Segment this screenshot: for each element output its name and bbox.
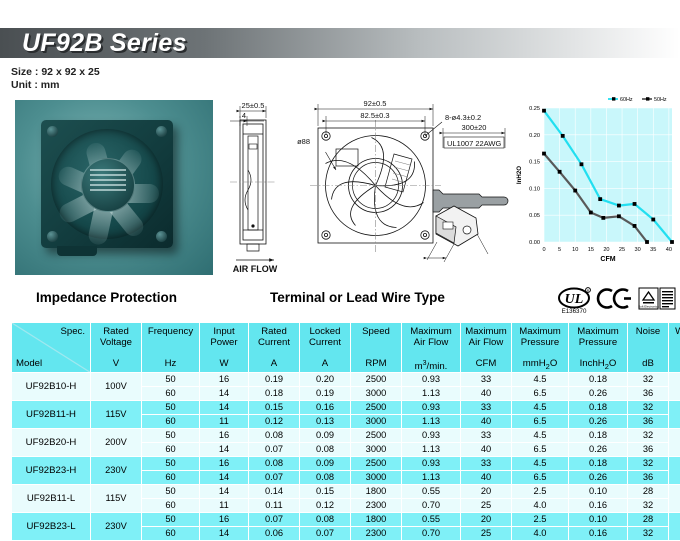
x-tick-label: 10 <box>572 247 578 253</box>
cell-w: 16 <box>200 457 249 471</box>
cell-m3: 1.13 <box>402 443 461 457</box>
y-tick-label: 0.00 <box>529 240 540 246</box>
header-speed: Speed RPM <box>351 323 402 373</box>
cell-db: 32 <box>628 457 669 471</box>
cell-il: 0.09 <box>300 429 351 443</box>
cell-inch: 0.18 <box>569 457 628 471</box>
y-tick-label: 0.20 <box>529 133 540 139</box>
cell-m3: 1.13 <box>402 471 461 485</box>
dim-side-flange: 4 <box>242 111 246 120</box>
cell-m3: 0.70 <box>402 499 461 513</box>
y-axis-label: InH2O <box>516 166 523 184</box>
ul-icon: UL R <box>559 288 590 308</box>
header-weight: Weight kg <box>669 323 680 373</box>
cell-m3: 0.93 <box>402 457 461 471</box>
unit-m3-min: m3/min. <box>402 358 460 372</box>
header-spec-label: Spec. <box>60 326 85 337</box>
header-locked-current: Locked Current A <box>300 323 351 373</box>
data-point-60Hz <box>617 204 621 208</box>
cell-il: 0.15 <box>300 485 351 499</box>
data-point-60Hz <box>598 197 602 201</box>
wire-spec-label: UL1007 22AWG <box>447 139 502 148</box>
cell-inch: 0.10 <box>569 485 628 499</box>
fan-hub-label <box>81 158 135 212</box>
dim-width: 92±0.5 <box>364 99 387 108</box>
cell-weight: 0.28 <box>669 373 680 401</box>
cell-hz: 50 <box>142 429 200 443</box>
cell-rated-voltage: 115V <box>91 401 142 429</box>
cell-rpm: 3000 <box>351 387 402 401</box>
cell-hz: 60 <box>142 415 200 429</box>
cell-weight: 0.28 <box>669 485 680 513</box>
cell-inch: 0.26 <box>569 387 628 401</box>
cell-hz: 60 <box>142 387 200 401</box>
mount-hole-icon <box>156 126 167 137</box>
cell-w: 14 <box>200 471 249 485</box>
cell-il: 0.12 <box>300 499 351 513</box>
hub-label-text <box>90 169 126 199</box>
cell-db: 28 <box>628 513 669 527</box>
legend-label-60Hz: 60Hz <box>620 97 633 103</box>
data-point-60Hz <box>670 240 674 244</box>
cell-il: 0.19 <box>300 387 351 401</box>
cell-db: 36 <box>628 415 669 429</box>
data-point-60Hz <box>651 218 655 222</box>
ce-icon <box>598 290 631 308</box>
data-point-60Hz <box>561 134 565 138</box>
engineering-drawing: 25±0.5 4 ø88 AIR FLOW 92±0.5 82.5±0.3 8-… <box>218 92 518 277</box>
x-tick-label: 20 <box>603 247 609 253</box>
cell-w: 14 <box>200 401 249 415</box>
data-point-50Hz <box>645 240 649 244</box>
cell-il: 0.09 <box>300 457 351 471</box>
header-noise: Noise dB <box>628 323 669 373</box>
cell-cfm: 40 <box>461 415 512 429</box>
cell-w: 11 <box>200 415 249 429</box>
cell-mm: 4.0 <box>512 499 569 513</box>
cell-mm: 4.5 <box>512 401 569 415</box>
cell-model: UF92B23-H <box>12 457 91 485</box>
cell-mm: 6.5 <box>512 415 569 429</box>
cell-hz: 50 <box>142 513 200 527</box>
dim-hole-pitch: 82.5±0.3 <box>360 111 389 120</box>
fan-housing <box>41 120 173 248</box>
cell-cfm: 40 <box>461 443 512 457</box>
x-tick-label: 15 <box>588 247 594 253</box>
cell-hz: 60 <box>142 471 200 485</box>
mount-hole-icon <box>156 231 167 242</box>
cell-il: 0.16 <box>300 401 351 415</box>
cell-mm: 4.5 <box>512 429 569 443</box>
cell-m3: 0.93 <box>402 373 461 387</box>
cell-weight: 0.28 <box>669 401 680 429</box>
cell-db: 32 <box>628 429 669 443</box>
cell-rated-voltage: 230V <box>91 457 142 485</box>
cell-m3: 1.13 <box>402 387 461 401</box>
x-tick-label: 40 <box>666 247 672 253</box>
legend-marker-60Hz <box>612 97 615 100</box>
data-point-50Hz <box>589 211 593 215</box>
mount-hole-icon <box>47 231 58 242</box>
header-frequency: Frequency Hz <box>142 323 200 373</box>
table-header-row: Spec. Model Rated Voltage V Frequency Hz… <box>12 323 680 373</box>
cell-il: 0.08 <box>300 513 351 527</box>
cell-ia: 0.07 <box>249 513 300 527</box>
spec-plate-mark-icon <box>660 288 675 309</box>
x-axis-label: CFM <box>600 256 615 263</box>
cell-cfm: 20 <box>461 513 512 527</box>
y-tick-label: 0.15 <box>529 160 540 166</box>
svg-text:UL: UL <box>565 292 584 307</box>
cell-mm: 4.5 <box>512 457 569 471</box>
cell-db: 32 <box>628 373 669 387</box>
cell-model: UF92B23-L <box>12 513 91 541</box>
unit-inchh2o: InchH2O <box>569 358 627 372</box>
cell-mm: 6.5 <box>512 387 569 401</box>
cell-db: 36 <box>628 471 669 485</box>
certification-marks: UL R E136370 Soft Electronics <box>558 286 676 316</box>
cell-ia: 0.08 <box>249 429 300 443</box>
cell-hz: 50 <box>142 485 200 499</box>
cell-db: 32 <box>628 499 669 513</box>
cell-inch: 0.18 <box>569 373 628 387</box>
cell-hz: 50 <box>142 373 200 387</box>
cell-model: UF92B10-H <box>12 373 91 401</box>
cell-m3: 0.55 <box>402 513 461 527</box>
y-tick-label: 0.05 <box>529 213 540 219</box>
header-max-pressure-inch: Maximum Pressure InchH2O <box>569 323 628 373</box>
cell-il: 0.13 <box>300 415 351 429</box>
x-tick-label: 35 <box>650 247 656 253</box>
data-point-50Hz <box>617 214 621 218</box>
unit-mmh2o: mmH2O <box>512 358 568 372</box>
cell-cfm: 40 <box>461 387 512 401</box>
y-tick-label: 0.25 <box>529 106 540 112</box>
cell-cfm: 33 <box>461 401 512 415</box>
cell-m3: 0.93 <box>402 401 461 415</box>
cell-cfm: 20 <box>461 485 512 499</box>
cell-w: 16 <box>200 373 249 387</box>
data-point-50Hz <box>558 170 562 174</box>
cell-rpm: 2500 <box>351 401 402 415</box>
header-rated-voltage: Rated Voltage V <box>91 323 142 373</box>
cell-model: UF92B11-H <box>12 401 91 429</box>
page-title: UF92B Series <box>22 28 422 58</box>
cell-rpm: 2500 <box>351 457 402 471</box>
svg-text:Soft Electronics: Soft Electronics <box>638 305 659 309</box>
x-tick-label: 30 <box>635 247 641 253</box>
header-max-airflow-m3: Maximum Air Flow m3/min. <box>402 323 461 373</box>
table-row: UF92B23-H230V50160.080.0925000.93334.50.… <box>12 457 680 471</box>
cell-db: 36 <box>628 443 669 457</box>
cell-w: 11 <box>200 499 249 513</box>
header-max-pressure-mm: Maximum Pressure mmH2O <box>512 323 569 373</box>
table-row: UF92B10-H100V50160.190.2025000.93334.50.… <box>12 373 680 387</box>
unit-line: Unit : mm <box>11 79 100 92</box>
cell-rpm: 1800 <box>351 485 402 499</box>
cell-w: 14 <box>200 443 249 457</box>
cell-cfm: 40 <box>461 471 512 485</box>
cell-inch: 0.26 <box>569 471 628 485</box>
cell-mm: 6.5 <box>512 471 569 485</box>
recycle-mark-icon: Soft Electronics <box>638 288 659 309</box>
cell-ia: 0.14 <box>249 485 300 499</box>
cell-ia: 0.19 <box>249 373 300 387</box>
cell-db: 36 <box>628 387 669 401</box>
cell-rpm: 2500 <box>351 373 402 387</box>
fan-cable-exit <box>57 246 97 256</box>
cell-m3: 1.13 <box>402 415 461 429</box>
table-row: UF92B11-L115V50140.140.1518000.55202.50.… <box>12 485 680 499</box>
cell-m3: 0.93 <box>402 429 461 443</box>
table-row: UF92B20-H200V50160.080.0925000.93334.50.… <box>12 429 680 443</box>
cell-db: 32 <box>628 401 669 415</box>
cell-ia: 0.18 <box>249 387 300 401</box>
data-point-50Hz <box>601 216 605 220</box>
data-point-50Hz <box>542 152 546 156</box>
cell-hz: 50 <box>142 401 200 415</box>
table-row: UF92B23-L230V50160.070.0818000.55202.50.… <box>12 513 680 527</box>
cell-rpm: 2500 <box>351 429 402 443</box>
cell-model: UF92B11-L <box>12 485 91 513</box>
cell-cfm: 33 <box>461 429 512 443</box>
cell-inch: 0.16 <box>569 499 628 513</box>
cell-rated-voltage: 100V <box>91 373 142 401</box>
cell-inch: 0.26 <box>569 415 628 429</box>
cell-il: 0.08 <box>300 443 351 457</box>
dim-bore: ø88 <box>297 137 310 146</box>
ul-file-number: E136370 <box>562 308 587 315</box>
header-input-power: Input Power W <box>200 323 249 373</box>
cell-rpm: 3000 <box>351 443 402 457</box>
caption-impedance-protection: Impedance Protection <box>36 290 177 305</box>
legend-label-50Hz: 50Hz <box>654 97 667 103</box>
cell-hz: 60 <box>142 443 200 457</box>
data-point-50Hz <box>633 224 637 228</box>
cell-rated-voltage: 230V <box>91 513 142 541</box>
cell-mm: 2.5 <box>512 513 569 527</box>
cell-model: UF92B20-H <box>12 429 91 457</box>
air-flow-label: AIR FLOW <box>233 264 278 274</box>
cell-inch: 0.10 <box>569 513 628 527</box>
cell-mm: 2.5 <box>512 485 569 499</box>
cell-ia: 0.07 <box>249 471 300 485</box>
cell-cfm: 33 <box>461 457 512 471</box>
cell-w: 16 <box>200 429 249 443</box>
table-row: UF92B11-H115V50140.150.1625000.93334.50.… <box>12 401 680 415</box>
cell-weight: 0.28 <box>669 457 680 485</box>
header-corner-cell: Spec. Model <box>12 323 91 373</box>
fan-impeller <box>51 129 163 239</box>
product-photo <box>15 100 213 275</box>
dimension-note: Size : 92 x 92 x 25 Unit : mm <box>11 66 100 92</box>
cell-w: 14 <box>200 485 249 499</box>
cell-hz: 60 <box>142 499 200 513</box>
x-tick-label: 25 <box>619 247 625 253</box>
cell-weight: 0.28 <box>669 429 680 457</box>
cell-ia: 0.12 <box>249 415 300 429</box>
cell-rpm: 3000 <box>351 415 402 429</box>
cell-ia: 0.08 <box>249 457 300 471</box>
x-tick-label: 0 <box>542 247 545 253</box>
specification-table: Spec. Model Rated Voltage V Frequency Hz… <box>11 322 680 541</box>
mount-hole-icon <box>47 126 58 137</box>
data-point-50Hz <box>573 189 577 193</box>
x-tick-label: 5 <box>558 247 561 253</box>
cell-il: 0.20 <box>300 373 351 387</box>
cell-cfm: 33 <box>461 373 512 387</box>
dim-lead-length: 300±20 <box>462 123 487 132</box>
size-line: Size : 92 x 92 x 25 <box>11 66 100 79</box>
cell-m3: 0.55 <box>402 485 461 499</box>
cell-w: 14 <box>200 387 249 401</box>
dim-side-depth: 25±0.5 <box>242 101 265 110</box>
header-model-label: Model <box>16 358 42 369</box>
cell-il: 0.08 <box>300 471 351 485</box>
cell-cfm: 25 <box>461 499 512 513</box>
cell-w: 16 <box>200 513 249 527</box>
cell-ia: 0.07 <box>249 443 300 457</box>
cell-rated-voltage: 200V <box>91 429 142 457</box>
header-max-airflow-cfm: Maximum Air Flow CFM <box>461 323 512 373</box>
dim-holes: 8-ø4.3±0.2 <box>445 113 481 122</box>
header-rated-current: Rated Current A <box>249 323 300 373</box>
cell-rpm: 3000 <box>351 471 402 485</box>
data-point-60Hz <box>633 202 637 206</box>
data-point-60Hz <box>542 109 546 113</box>
cell-hz: 50 <box>142 457 200 471</box>
cell-mm: 4.5 <box>512 373 569 387</box>
cell-db: 28 <box>628 485 669 499</box>
table-body: UF92B10-H100V50160.190.2025000.93334.50.… <box>12 373 680 541</box>
legend-marker-50Hz <box>646 97 649 100</box>
caption-terminal-lead-wire: Terminal or Lead Wire Type <box>270 290 445 305</box>
cell-rpm: 2300 <box>351 499 402 513</box>
cell-inch: 0.26 <box>569 443 628 457</box>
cell-rpm: 1800 <box>351 513 402 527</box>
cell-mm: 6.5 <box>512 443 569 457</box>
cell-rated-voltage: 115V <box>91 485 142 513</box>
cell-inch: 0.18 <box>569 401 628 415</box>
cell-weight: 0.28 <box>669 513 680 541</box>
cell-inch: 0.18 <box>569 429 628 443</box>
y-tick-label: 0.10 <box>529 186 540 192</box>
data-point-60Hz <box>580 162 584 166</box>
pressure-airflow-chart: 05101520253035400.000.050.100.150.200.25… <box>512 92 678 276</box>
cell-ia: 0.11 <box>249 499 300 513</box>
cell-ia: 0.15 <box>249 401 300 415</box>
